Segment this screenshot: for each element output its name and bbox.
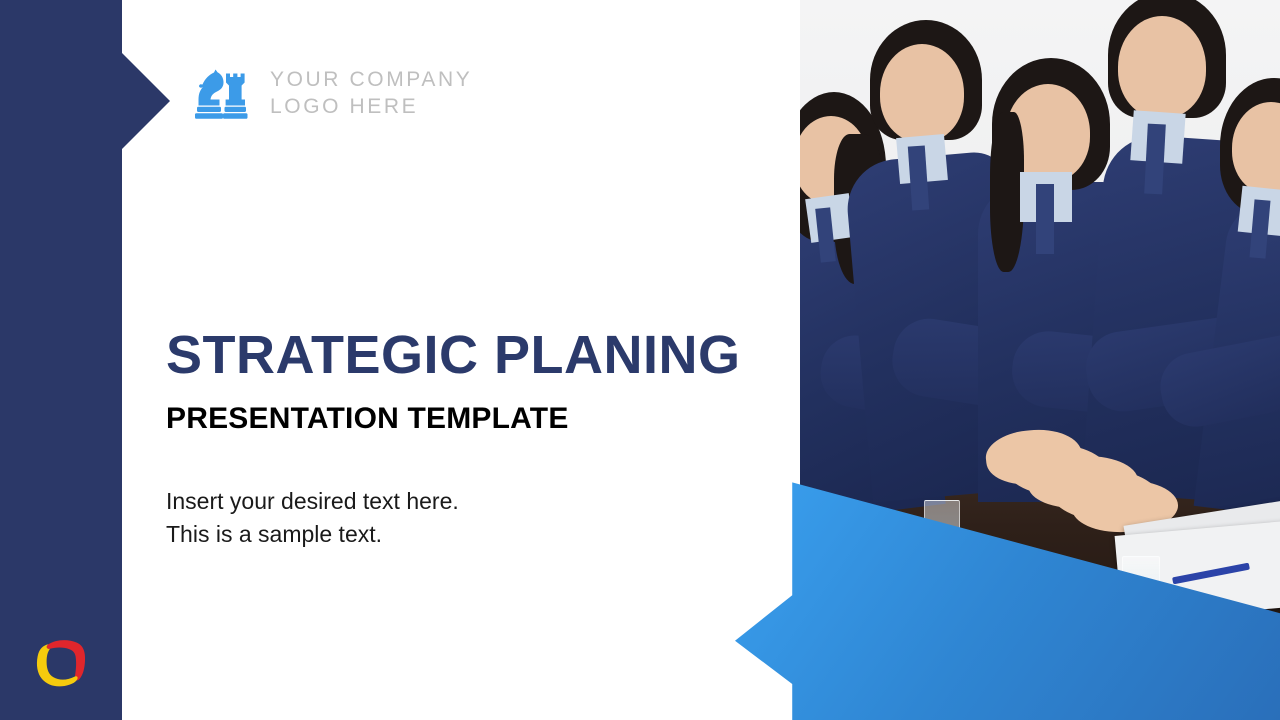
chess-pieces-icon [192, 63, 254, 125]
slide-title: STRATEGIC PLANING [166, 326, 766, 384]
slide-body-text: Insert your desired text here. This is a… [166, 485, 766, 550]
slide-text-block: STRATEGIC PLANING PRESENTATION TEMPLATE … [166, 326, 766, 551]
company-logo-text: YOUR COMPANY LOGO HERE [270, 67, 472, 121]
company-logo-block: YOUR COMPANY LOGO HERE [192, 63, 472, 125]
body-line-1: Insert your desired text here. [166, 485, 766, 518]
rounded-ring-logo-icon [37, 640, 85, 686]
body-line-2: This is a sample text. [166, 518, 766, 551]
navy-arrow-right-icon [121, 52, 170, 150]
left-navy-sidebar [0, 0, 122, 720]
slide-subtitle: PRESENTATION TEMPLATE [166, 402, 766, 435]
presentation-slide: YOUR COMPANY LOGO HERE STRATEGIC PLANING… [0, 0, 1280, 720]
brand-logo-mark [36, 636, 88, 690]
